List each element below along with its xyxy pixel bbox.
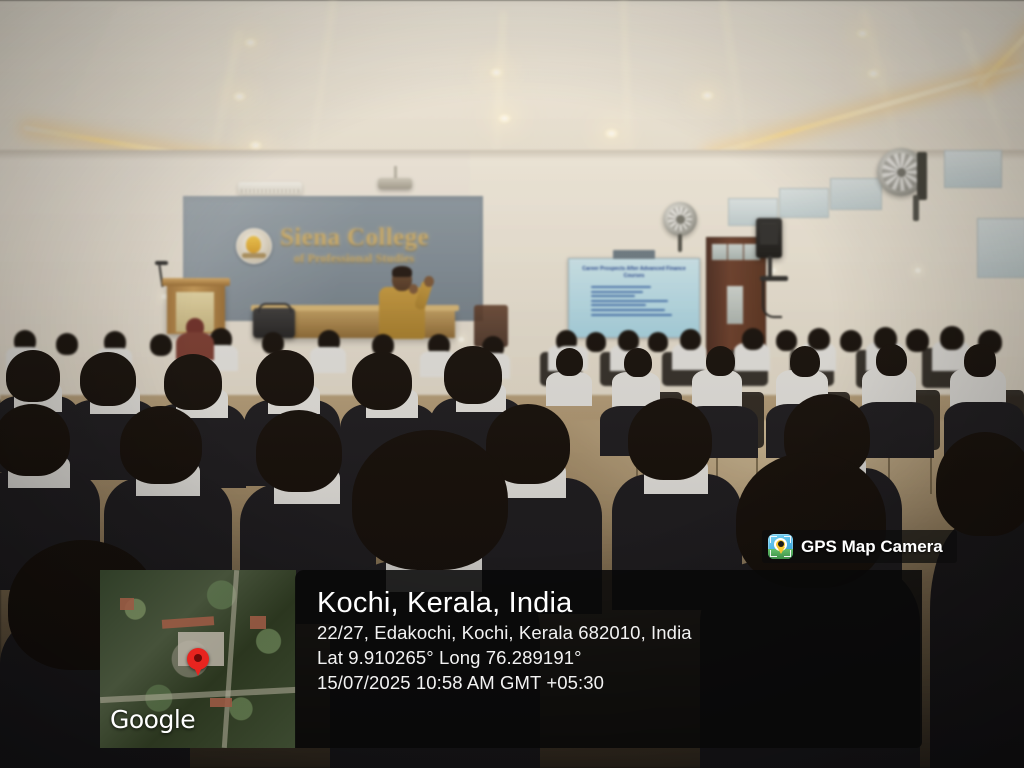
audience-head xyxy=(80,352,136,406)
audience-head xyxy=(624,348,652,377)
audience-head xyxy=(876,344,907,376)
audience-head xyxy=(906,329,929,352)
audience-head xyxy=(164,354,222,410)
audience-head xyxy=(742,328,764,350)
audience-head xyxy=(940,326,964,350)
audience-head xyxy=(706,346,735,376)
audience-head xyxy=(936,432,1024,536)
audience-head xyxy=(352,352,412,410)
audience-head xyxy=(150,334,172,356)
audience-head xyxy=(776,330,797,351)
audience-head xyxy=(680,329,701,350)
map-building xyxy=(250,616,266,629)
audience-head xyxy=(352,430,508,570)
map-thumbnail[interactable]: Google xyxy=(100,570,296,748)
map-building xyxy=(210,698,232,707)
audience-head xyxy=(444,346,502,404)
audience-head xyxy=(628,398,712,480)
audience-head xyxy=(0,404,70,476)
audience-head xyxy=(586,332,606,352)
audience-head xyxy=(256,350,314,406)
location-timestamp: 15/07/2025 10:58 AM GMT +05:30 xyxy=(317,670,908,695)
audience-head xyxy=(840,330,862,352)
audience-head xyxy=(964,344,996,377)
audience-head xyxy=(256,410,342,492)
location-pin-icon xyxy=(187,648,209,670)
location-coordinates: Lat 9.910265° Long 76.289191° xyxy=(317,645,908,670)
audience-head xyxy=(120,406,202,484)
gps-location-panel: Kochi, Kerala, India 22/27, Edakochi, Ko… xyxy=(295,570,922,748)
audience-head xyxy=(56,333,78,355)
gps-map-camera-label: GPS Map Camera xyxy=(801,537,943,557)
gps-location-texts: Kochi, Kerala, India 22/27, Edakochi, Ko… xyxy=(317,586,908,695)
google-watermark: Google xyxy=(110,705,195,734)
audience-head xyxy=(648,332,668,352)
audience-head xyxy=(790,346,820,377)
audience-head xyxy=(736,452,886,588)
gps-map-camera-icon xyxy=(768,534,793,559)
audience-head xyxy=(6,350,60,402)
gps-camera-photo: Siena College of Professional Studies Ca… xyxy=(0,0,1024,768)
location-city: Kochi, Kerala, India xyxy=(317,586,908,620)
location-address: 22/27, Edakochi, Kochi, Kerala 682010, I… xyxy=(317,620,908,645)
gps-map-camera-badge[interactable]: GPS Map Camera xyxy=(762,530,957,563)
audience-head xyxy=(556,348,583,376)
map-building xyxy=(120,598,134,610)
